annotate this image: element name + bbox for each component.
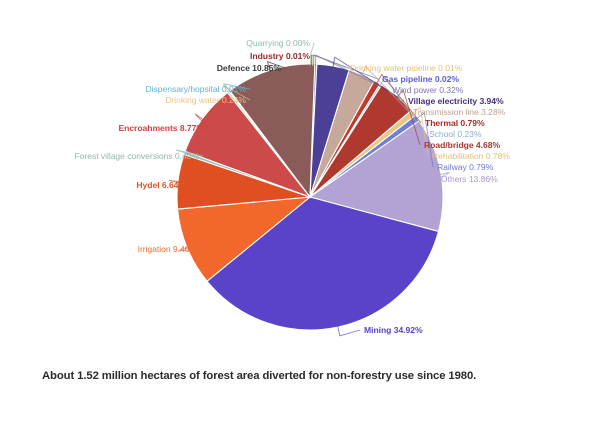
pie-slice-label: Encroahments 8.77% xyxy=(118,123,204,133)
pie-slice-label: Rehabilitation 0.78% xyxy=(432,151,510,161)
chart-plot-area: Quarrying 0.00%Industry 0.01%Drinking wa… xyxy=(0,0,610,360)
pie-slice-label: Quarrying 0.00% xyxy=(246,38,310,48)
pie-slice-label: Thermal 0.79% xyxy=(425,118,485,128)
pie-slice-label: Drinking water 0.24% xyxy=(165,95,246,105)
pie-slice-label: Road/bridge 4.68% xyxy=(424,140,500,150)
pie-slice-label: Mining 34.92% xyxy=(364,325,423,335)
chart-caption: About 1.52 million hectares of forest ar… xyxy=(42,370,582,382)
pie-slice-label: Forest village conversions 0.40% xyxy=(74,151,199,161)
pie-slice-label: Railway 0.79% xyxy=(437,162,494,172)
pie-svg: Quarrying 0.00%Industry 0.01%Drinking wa… xyxy=(0,0,610,360)
pie-slice-label: School 0.23% xyxy=(429,129,482,139)
pie-slice-label: Drinking water pipeline 0.01% xyxy=(350,63,463,73)
pie-slice-label: Others 13.86% xyxy=(441,174,498,184)
pie-slice-label: Gas pipeline 0.02% xyxy=(382,74,459,84)
pie-slice-label: Transmission line 3.28% xyxy=(413,107,506,117)
pie-slice-label: Irrigation 9.46% xyxy=(138,244,198,254)
pie-slice-label: Village electricity 3.94% xyxy=(408,96,504,106)
pie-slice-label: Wind power 0.32% xyxy=(392,85,464,95)
pie-slice-label: Defence 10.85% xyxy=(217,63,282,73)
pie-slice-label: Dispensary/hopsital 0.01% xyxy=(146,84,247,94)
pie-chart-figure: Quarrying 0.00%Industry 0.01%Drinking wa… xyxy=(0,0,610,425)
pie-slice-label: Hydel 6.64% xyxy=(136,180,186,190)
pie-slice-label: Industry 0.01% xyxy=(250,51,310,61)
